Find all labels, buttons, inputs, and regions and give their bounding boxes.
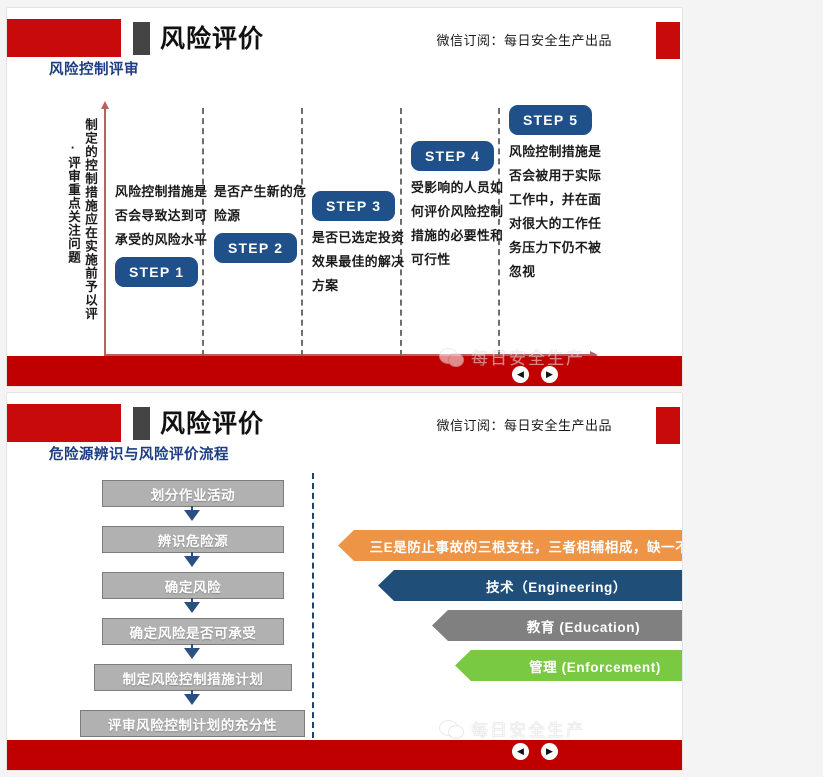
slide-nav-controls-2[interactable]: ◀ ▶: [512, 743, 558, 760]
flow-arrow-5: [184, 694, 200, 705]
wechat-watermark-text-2: 每日安全生产: [471, 716, 585, 741]
page-subtitle-2: 危险源辨识与风险评价流程: [49, 443, 229, 464]
slide-nav-controls[interactable]: ◀ ▶: [512, 366, 558, 383]
header-red-block-2: [7, 404, 121, 442]
step-column-2-text: 是否产生新的危险源: [214, 180, 308, 228]
flow-arrow-4: [184, 648, 200, 659]
wechat-logo-icon-2: [439, 718, 465, 740]
slide-risk-control-review[interactable]: 风险评价 风险控制评审 微信订阅：每日安全生产出品 制定的控制措施应在实施前予以…: [7, 8, 682, 386]
slide-footer-bar-2: [7, 740, 682, 770]
step-column-4-text: 受影响的人员如何评价风险控制措施的必要性和可行性: [411, 176, 505, 272]
next-slide-icon-2[interactable]: ▶: [541, 743, 558, 760]
chevron-enforcement[interactable]: 管理 (Enforcement): [455, 650, 682, 681]
vertical-axis-arrow: [104, 108, 106, 356]
step-badge-5[interactable]: STEP 5: [509, 105, 592, 135]
section-divider: [312, 473, 314, 738]
axis-label-line-b: ·评审重点关注问题: [63, 141, 82, 264]
screenshot-page: 风险评价 风险控制评审 微信订阅：每日安全生产出品 制定的控制措施应在实施前予以…: [0, 0, 823, 777]
header-red-block: [7, 19, 121, 57]
step-column-3-text: 是否已选定投资效果最佳的解决方案: [312, 226, 406, 298]
step-badge-1[interactable]: STEP 1: [115, 257, 198, 287]
flow-step-2[interactable]: 辨识危险源: [102, 526, 284, 553]
flow-step-3[interactable]: 确定风险: [102, 572, 284, 599]
step-column-5-text: 风险控制措施是否会被用于实际工作中，并在面对很大的工作任务压力下仍不被忽视: [509, 140, 603, 284]
step-badge-2[interactable]: STEP 2: [214, 233, 297, 263]
page-title: 风险评价: [160, 23, 264, 55]
wechat-watermark-2: 每日安全生产: [439, 716, 585, 741]
step-column-4[interactable]: STEP 4 受影响的人员如何评价风险控制措施的必要性和可行性: [411, 136, 505, 272]
chevron-education[interactable]: 教育 (Education): [432, 610, 682, 641]
wechat-credit-2: 微信订阅：每日安全生产出品: [436, 415, 612, 434]
wechat-credit: 微信订阅：每日安全生产出品: [436, 30, 612, 49]
header-gray-bar: [133, 22, 150, 55]
slide-hazard-identification-flow[interactable]: 风险评价 危险源辨识与风险评价流程 微信订阅：每日安全生产出品 划分作业活动 辨…: [7, 393, 682, 770]
prev-slide-icon-2[interactable]: ◀: [512, 743, 529, 760]
prev-slide-icon[interactable]: ◀: [512, 366, 529, 383]
chevron-engineering[interactable]: 技术（Engineering）: [378, 570, 682, 601]
axis-label-line-a: 制定的控制措施应在实施前予以评: [80, 118, 99, 321]
header-gray-bar-2: [133, 407, 150, 440]
next-slide-icon[interactable]: ▶: [541, 366, 558, 383]
step-column-3[interactable]: STEP 3 是否已选定投资效果最佳的解决方案: [312, 186, 406, 298]
slide-footer-bar: [7, 356, 682, 386]
page-title-2: 风险评价: [160, 408, 264, 440]
flow-step-6[interactable]: 评审风险控制计划的充分性: [80, 710, 305, 737]
chevron-3e-banner[interactable]: 三E是防止事故的三根支柱，三者相辅相成，缺一不可: [338, 530, 682, 561]
step-column-2[interactable]: 是否产生新的危险源 STEP 2: [214, 180, 308, 268]
flow-arrow-1: [184, 510, 200, 521]
header-red-tab: [656, 22, 680, 59]
flow-arrow-2: [184, 556, 200, 567]
page-subtitle: 风险控制评审: [49, 58, 139, 79]
step-badge-4[interactable]: STEP 4: [411, 141, 494, 171]
flow-step-1[interactable]: 划分作业活动: [102, 480, 284, 507]
step-badge-3[interactable]: STEP 3: [312, 191, 395, 221]
step-column-1[interactable]: 风险控制措施是否会导致达到可承受的风险水平 STEP 1: [115, 180, 209, 292]
step-column-1-text: 风险控制措施是否会导致达到可承受的风险水平: [115, 180, 209, 252]
flow-step-5[interactable]: 制定风险控制措施计划: [94, 664, 292, 691]
flow-arrow-3: [184, 602, 200, 613]
step-column-5[interactable]: STEP 5 风险控制措施是否会被用于实际工作中，并在面对很大的工作任务压力下仍…: [509, 100, 603, 284]
header-red-tab-2: [656, 407, 680, 444]
flow-step-4[interactable]: 确定风险是否可承受: [102, 618, 284, 645]
